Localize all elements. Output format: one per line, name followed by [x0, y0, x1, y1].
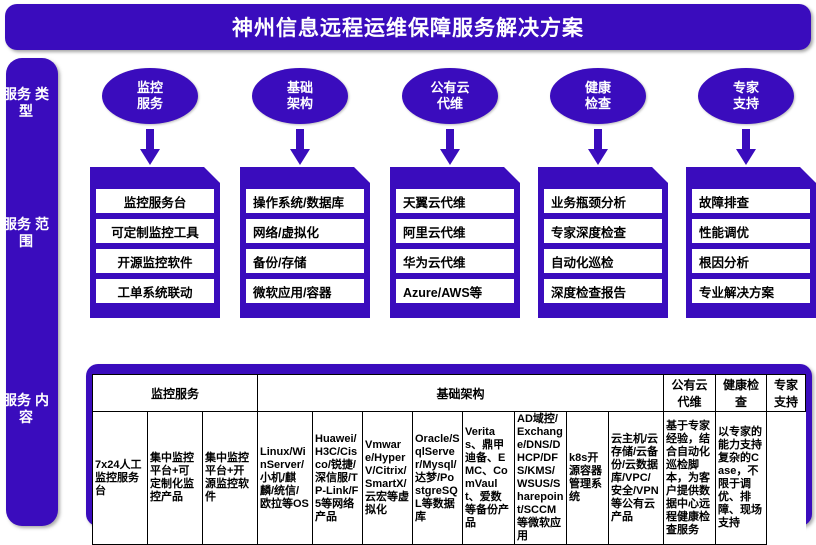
table-cell: Veritas、鼎甲迪备、EMC、ComVault、爱数等备份产品 — [463, 412, 515, 545]
category-ellipse-infrastructure[interactable]: 基础 架构 — [252, 68, 348, 124]
table-cell: AD域控/Exchange/DNS/DHCP/DFS/KMS/WSUS/Shar… — [515, 412, 567, 545]
table-cell: 7x24人工监控服务台 — [93, 412, 148, 545]
scope-item[interactable]: 专家深度检查 — [544, 219, 662, 243]
scope-item[interactable]: 华为云代维 — [396, 249, 514, 273]
table-cell: Huawei/H3C/Cisco/锐捷/深信服/TP-Link/F5等网络产品 — [313, 412, 363, 545]
category-ellipse-health-check-line1: 健康 — [585, 80, 611, 96]
sidebar — [6, 58, 58, 526]
sidebar-item-service-scope-line1: 服务 — [3, 216, 31, 232]
scope-item[interactable]: 根因分析 — [692, 249, 810, 273]
scope-item[interactable]: 阿里云代维 — [396, 219, 514, 243]
table-group-header-health-check: 健康检查 — [716, 375, 767, 412]
service-content-table: 监控服务 基础架构 公有云代维 健康检查 专家支持 7x24人工监控服务台 集中… — [92, 374, 806, 545]
category-ellipse-expert-support[interactable]: 专家 支持 — [698, 68, 794, 124]
table-group-header-expert-support: 专家支持 — [767, 375, 806, 412]
category-ellipse-public-cloud[interactable]: 公有云 代维 — [402, 68, 498, 124]
scope-card-public-cloud: 天翼云代维 阿里云代维 华为云代维 Azure/AWS等 — [390, 167, 520, 318]
table-cell: Oracle/SqlServer/Mysql/达梦/PostgreSQL等数据库 — [413, 412, 463, 545]
scope-item[interactable]: 开源监控软件 — [96, 249, 214, 273]
table-cell: k8s开源容器管理系统 — [567, 412, 609, 545]
table-cell: 集中监控平台+开源监控软件 — [203, 412, 258, 545]
table-cell: 以专家的能力支持复杂的Case，不限于调优、排障、现场支持 — [716, 412, 767, 545]
category-ellipse-public-cloud-line2: 代维 — [437, 96, 463, 112]
scope-item[interactable]: 微软应用/容器 — [246, 279, 364, 303]
scope-item[interactable]: 自动化巡检 — [544, 249, 662, 273]
down-arrow-icon-5 — [735, 129, 757, 167]
category-ellipse-monitoring[interactable]: 监控 服务 — [102, 68, 198, 124]
scope-item[interactable]: 操作系统/数据库 — [246, 189, 364, 213]
scope-card-monitoring: 监控服务台 可定制监控工具 开源监控软件 工单系统联动 — [90, 167, 220, 318]
sidebar-item-service-scope: 服务 范围 — [0, 216, 52, 250]
sidebar-item-service-content: 服务 内容 — [0, 392, 52, 426]
scope-card-health-check: 业务瓶颈分析 专家深度检查 自动化巡检 深度检查报告 — [538, 167, 668, 318]
sidebar-item-service-type-line1: 服务 — [3, 86, 31, 102]
category-ellipse-health-check-line2: 检查 — [585, 96, 611, 112]
table-group-header-row: 监控服务 基础架构 公有云代维 健康检查 专家支持 — [93, 375, 806, 412]
table-group-header-public-cloud: 公有云代维 — [664, 375, 716, 412]
scope-item[interactable]: 备份/存储 — [246, 249, 364, 273]
category-ellipse-infrastructure-line1: 基础 — [287, 80, 313, 96]
category-ellipse-health-check[interactable]: 健康 检查 — [550, 68, 646, 124]
scope-item[interactable]: 网络/虚拟化 — [246, 219, 364, 243]
down-arrow-icon-4 — [587, 129, 609, 167]
category-ellipse-expert-support-line2: 支持 — [733, 96, 759, 112]
scope-item[interactable]: 故障排查 — [692, 189, 810, 213]
category-ellipse-monitoring-line1: 监控 — [137, 80, 163, 96]
table-cell: Linux/WinServer/小机/麒麟/统信/欧拉等OS — [258, 412, 313, 545]
scope-item[interactable]: 专业解决方案 — [692, 279, 810, 303]
category-ellipse-public-cloud-line1: 公有云 — [430, 80, 469, 96]
scope-item[interactable]: 业务瓶颈分析 — [544, 189, 662, 213]
category-ellipse-monitoring-line2: 服务 — [137, 96, 163, 112]
diagram-canvas: 神州信息远程运维保障服务解决方案 服务 类型 服务 范围 服务 内容 监控 服务… — [0, 0, 816, 533]
table-cell: 基于专家经验，结合自动化巡检脚本，为客户提供数据中心远程健康检查服务 — [664, 412, 716, 545]
table-cell: Vmware/HyperV/Citrix/SmartX/云宏等虚拟化 — [363, 412, 413, 545]
scope-card-expert-support: 故障排查 性能调优 根因分析 专业解决方案 — [686, 167, 816, 318]
page-title-banner: 神州信息远程运维保障服务解决方案 — [5, 4, 811, 50]
scope-item[interactable]: 监控服务台 — [96, 189, 214, 213]
sidebar-item-service-type: 服务 类型 — [0, 86, 52, 120]
table-cell: 云主机/云存储/云备份/云数据库/VPC/安全/VPN等公有云产品 — [609, 412, 664, 545]
page-title: 神州信息远程运维保障服务解决方案 — [232, 12, 584, 42]
scope-item[interactable]: 天翼云代维 — [396, 189, 514, 213]
table-row: 7x24人工监控服务台 集中监控平台+可定制化监控产品 集中监控平台+开源监控软… — [93, 412, 806, 545]
scope-item[interactable]: 性能调优 — [692, 219, 810, 243]
scope-item[interactable]: 深度检查报告 — [544, 279, 662, 303]
scope-item[interactable]: 工单系统联动 — [96, 279, 214, 303]
sidebar-item-service-content-line1: 服务 — [3, 392, 31, 408]
table-group-header-monitoring: 监控服务 — [93, 375, 258, 412]
table-group-header-infrastructure: 基础架构 — [258, 375, 664, 412]
down-arrow-icon-3 — [439, 129, 461, 167]
category-ellipse-infrastructure-line2: 架构 — [287, 96, 313, 112]
scope-item[interactable]: Azure/AWS等 — [396, 279, 514, 303]
down-arrow-icon-1 — [139, 129, 161, 167]
table-cell: 集中监控平台+可定制化监控产品 — [148, 412, 203, 545]
category-ellipse-expert-support-line1: 专家 — [733, 80, 759, 96]
scope-item[interactable]: 可定制监控工具 — [96, 219, 214, 243]
scope-card-infrastructure: 操作系统/数据库 网络/虚拟化 备份/存储 微软应用/容器 — [240, 167, 370, 318]
service-content-panel: 监控服务 基础架构 公有云代维 健康检查 专家支持 7x24人工监控服务台 集中… — [86, 364, 812, 526]
down-arrow-icon-2 — [289, 129, 311, 167]
